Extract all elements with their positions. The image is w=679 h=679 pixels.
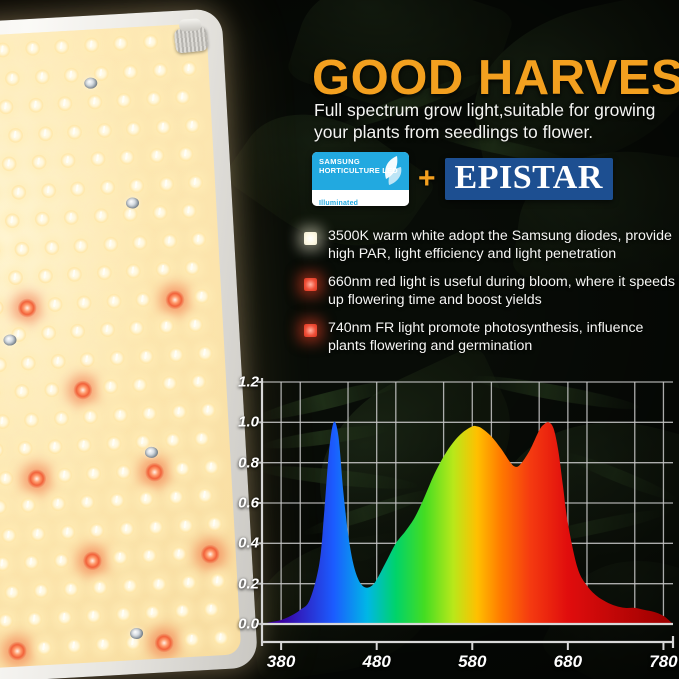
warm-white-led [8,127,24,143]
warm-white-led [0,42,11,58]
warm-white-led [161,233,177,249]
warm-white-led [180,574,196,590]
warm-white-led [40,182,56,198]
page-subtitle: Full spectrum grow light,suitable for gr… [314,100,679,144]
warm-white-led [54,39,70,55]
warm-white-led [194,288,210,304]
warm-white-led [0,413,10,429]
panel-screw [126,197,140,209]
warm-white-led [174,460,190,476]
warm-white-led [73,238,89,254]
y-tick-label: 1.2 [238,374,259,391]
warm-white-led [102,236,118,252]
warm-white-led [171,403,187,419]
epistar-logo: EPISTAR [445,158,613,200]
warm-white-led [66,638,82,654]
red-led [27,468,47,488]
warm-white-led [34,211,50,227]
warm-white-led [4,70,20,86]
warm-white-led [112,549,128,565]
warm-white-led [125,120,141,136]
brand-logos: SAMSUNG HORTICULTURE LED Illuminated + E… [312,152,613,206]
warm-white-led [99,179,115,195]
warm-white-led [82,408,98,424]
warm-white-led [60,153,76,169]
warm-white-led [138,348,154,364]
warm-white-led [53,553,69,569]
warm-white-led [122,206,138,222]
warm-white-led [184,117,200,133]
warm-white-led [14,241,30,257]
warm-white-led [132,377,148,393]
y-axis-labels: 0.00.20.40.60.81.01.2 [215,370,259,679]
red-led-marker-icon [304,324,317,337]
warm-white-led [33,582,49,598]
warm-white-led [142,34,158,50]
warm-white-led [151,576,167,592]
warm-white-led [0,556,10,572]
warm-white-led [132,234,148,250]
feature-text: 3500K warm white adopt the Samsung diode… [328,228,679,263]
warm-white-led [4,213,20,229]
warm-white-led [158,318,174,334]
feature-item: 740nm FR light promote photosynthesis, i… [304,320,679,355]
warm-white-led [67,266,83,282]
warm-white-led [0,442,4,458]
warm-white-led [0,299,4,315]
x-tick-label: 380 [267,652,295,672]
warm-white-led [47,439,63,455]
warm-white-led [24,40,40,56]
warm-white-led [0,356,7,372]
plus-sign: + [418,164,436,194]
warm-white-led [4,584,20,600]
warm-white-led [24,554,40,570]
red-led [7,641,27,661]
warm-white-led [96,122,112,138]
warm-white-led [63,581,79,597]
warm-white-led [181,203,197,219]
y-tick-label: 0.8 [238,454,259,471]
warm-white-led [90,151,106,167]
warm-white-led [115,606,131,622]
warm-white-led [1,156,17,172]
page-title: GOOD HARVES [312,50,679,106]
feature-text: 740nm FR light promote photosynthesis, i… [328,320,679,355]
warm-white-led [96,265,112,281]
warm-white-led [28,97,44,113]
warm-white-led [36,639,52,655]
warm-white-led [57,96,73,112]
warm-white-led [63,210,79,226]
warm-white-led [177,517,193,533]
y-tick-label: 1.0 [238,414,259,431]
feature-item: 3500K warm white adopt the Samsung diode… [304,228,679,263]
warm-white-led [14,384,30,400]
warm-white-led [76,294,92,310]
red-led [154,632,174,652]
warm-white-led [79,494,95,510]
knob-cap [179,18,202,31]
warm-white-led [138,491,154,507]
red-led [73,380,93,400]
warm-white-led [79,351,95,367]
warm-white-led [188,317,204,333]
warm-white-led [34,68,50,84]
warm-white-led [184,631,200,647]
warm-white-led [106,436,122,452]
x-tick-label: 680 [554,652,582,672]
warm-white-led [145,605,161,621]
warm-white-led [37,125,53,141]
product-marketing-image: GOOD HARVES Full spectrum grow light,sui… [0,0,679,679]
red-led [17,298,37,318]
warm-white-led [155,119,171,135]
warm-white-led [152,205,168,221]
warm-white-led [56,610,72,626]
warm-white-led [27,611,43,627]
warm-white-led [194,431,210,447]
warm-white-led [8,270,24,286]
warm-white-led [43,239,59,255]
warm-white-led [93,208,109,224]
panel-board [0,23,241,673]
warm-white-led [0,499,7,515]
warm-white-led [11,184,27,200]
warm-white-led [161,375,177,391]
warm-white-led [141,548,157,564]
warm-white-led [0,99,14,115]
warm-white-led [121,577,137,593]
warm-white-led [56,467,72,483]
warm-white-led [175,89,191,105]
panel-screw [3,334,17,346]
panel-screw [145,446,159,458]
warm-white-led [191,374,207,390]
warm-white-led [50,353,66,369]
y-tick-label: 0.2 [238,575,259,592]
warm-white-led [20,497,36,513]
samsung-horticulture-logo: SAMSUNG HORTICULTURE LED Illuminated [312,152,409,206]
warm-white-led [43,382,59,398]
warm-white-led [0,613,13,629]
x-tick-label: 780 [649,652,677,672]
y-tick-label: 0.6 [238,495,259,512]
warm-white-led [76,437,92,453]
feature-list: 3500K warm white adopt the Samsung diode… [304,228,679,367]
warm-white-led [37,268,53,284]
warm-white-led [188,174,204,190]
feature-text: 660nm red light is useful during bloom, … [328,274,679,309]
feature-item: 660nm red light is useful during bloom, … [304,274,679,309]
warm-white-led [17,440,33,456]
warm-white-led [89,522,105,538]
x-tick-label: 480 [363,652,391,672]
warm-white-led [24,412,40,428]
red-led-marker-icon [304,278,317,291]
warm-white-led [0,527,16,543]
panel-screw [130,628,144,640]
warm-white-led [95,636,111,652]
warm-white-led [106,293,122,309]
warm-white-led [135,291,151,307]
warm-white-led [116,92,132,108]
warm-white-led [197,488,213,504]
warm-white-led [109,350,125,366]
warm-white-led [178,146,194,162]
warm-white-led [67,124,83,140]
warm-white-led [30,525,46,541]
warm-white-led [53,410,69,426]
warm-white-led [184,260,200,276]
warm-white-led [125,263,141,279]
warm-white-led [63,67,79,83]
warm-white-led [141,405,157,421]
samsung-illuminated-badge: Illuminated [319,200,358,206]
warm-white-led [113,36,129,52]
red-led [164,289,184,309]
red-led [145,462,165,482]
white-led-marker-icon [304,232,317,245]
warm-white-led [174,603,190,619]
warm-white-led [31,154,47,170]
warm-white-led [102,379,118,395]
warm-white-led [158,176,174,192]
warm-white-led [83,37,99,53]
warm-white-led [59,524,75,540]
warm-white-led [112,407,128,423]
spectrum-plot [215,370,679,679]
warm-white-led [99,322,115,338]
warm-white-led [92,579,108,595]
y-tick-label: 0.4 [238,535,259,552]
warm-white-led [129,177,145,193]
warm-white-led [148,519,164,535]
warm-white-led [181,60,197,76]
warm-white-led [145,91,161,107]
red-led [82,551,102,571]
panel-screw [84,77,98,89]
warm-white-led [129,320,145,336]
warm-white-led [50,496,66,512]
warm-white-led [86,465,102,481]
warm-white-led [115,464,131,480]
warm-white-led [86,94,102,110]
y-tick-label: 0.0 [238,616,259,633]
warm-white-led [70,181,86,197]
spectrum-chart: 0.00.20.40.60.81.01.2 380480580680780 [215,370,679,679]
warm-white-led [109,492,125,508]
leaf-icon [377,155,405,187]
warm-white-led [149,148,165,164]
warm-white-led [0,470,13,486]
warm-white-led [122,64,138,80]
epistar-logo-label: EPISTAR [455,159,603,196]
warm-white-led [86,608,102,624]
warm-white-led [168,346,184,362]
warm-white-led [119,149,135,165]
warm-white-led [171,546,187,562]
warm-white-led [200,402,216,418]
warm-white-led [197,345,213,361]
warm-white-led [40,325,56,341]
warm-white-led [164,432,180,448]
warm-white-led [47,296,63,312]
warm-white-led [118,520,134,536]
warm-white-led [168,489,184,505]
x-tick-label: 580 [458,652,486,672]
warm-white-led [191,231,207,247]
warm-white-led [155,262,171,278]
warm-white-led [152,62,168,78]
warm-white-led [20,355,36,371]
warm-white-led [70,323,86,339]
